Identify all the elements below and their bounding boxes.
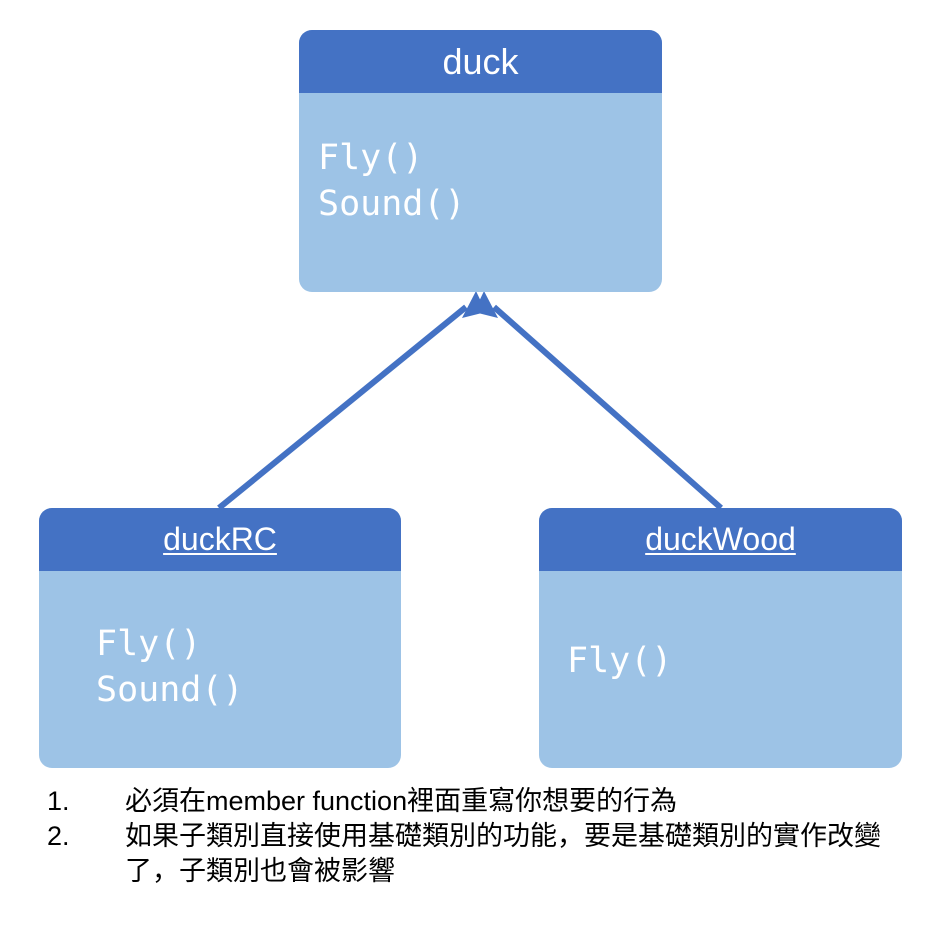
class-members-duckwood: Fly() — [539, 571, 902, 685]
class-members-duckrc: Fly() Sound() — [39, 571, 401, 713]
note-text-2: 如果子類別直接使用基礎類別的功能，要是基礎類別的實作改變了，子類別也會被影響 — [125, 819, 927, 889]
class-box-duck[interactable]: duck Fly() Sound() — [299, 30, 662, 292]
class-header-duck: duck — [299, 30, 662, 93]
diagram-canvas: duck Fly() Sound() duckRC Fly() Sound() … — [0, 0, 939, 940]
note-marker-1: 1. — [47, 784, 125, 819]
class-name-duck: duck — [442, 30, 518, 93]
connector-duckwood-to-duck — [474, 291, 721, 508]
note-marker-2: 2. — [47, 819, 125, 854]
class-name-duckwood: duckWood — [645, 508, 796, 571]
class-box-duckrc[interactable]: duckRC Fly() Sound() — [39, 508, 401, 768]
class-header-duckrc: duckRC — [39, 508, 401, 571]
class-header-duckwood: duckWood — [539, 508, 902, 571]
class-name-duckrc: duckRC — [163, 508, 277, 571]
class-members-duck: Fly() Sound() — [299, 93, 662, 227]
note-item-1: 1. 必須在member function裡面重寫你想要的行為 — [47, 784, 927, 819]
notes-list: 1. 必須在member function裡面重寫你想要的行為 2. 如果子類別… — [47, 784, 927, 889]
connector-duckrc-to-duck — [219, 291, 486, 508]
class-box-duckwood[interactable]: duckWood Fly() — [539, 508, 902, 768]
note-text-1: 必須在member function裡面重寫你想要的行為 — [125, 784, 927, 819]
note-item-2: 2. 如果子類別直接使用基礎類別的功能，要是基礎類別的實作改變了，子類別也會被影… — [47, 819, 927, 889]
